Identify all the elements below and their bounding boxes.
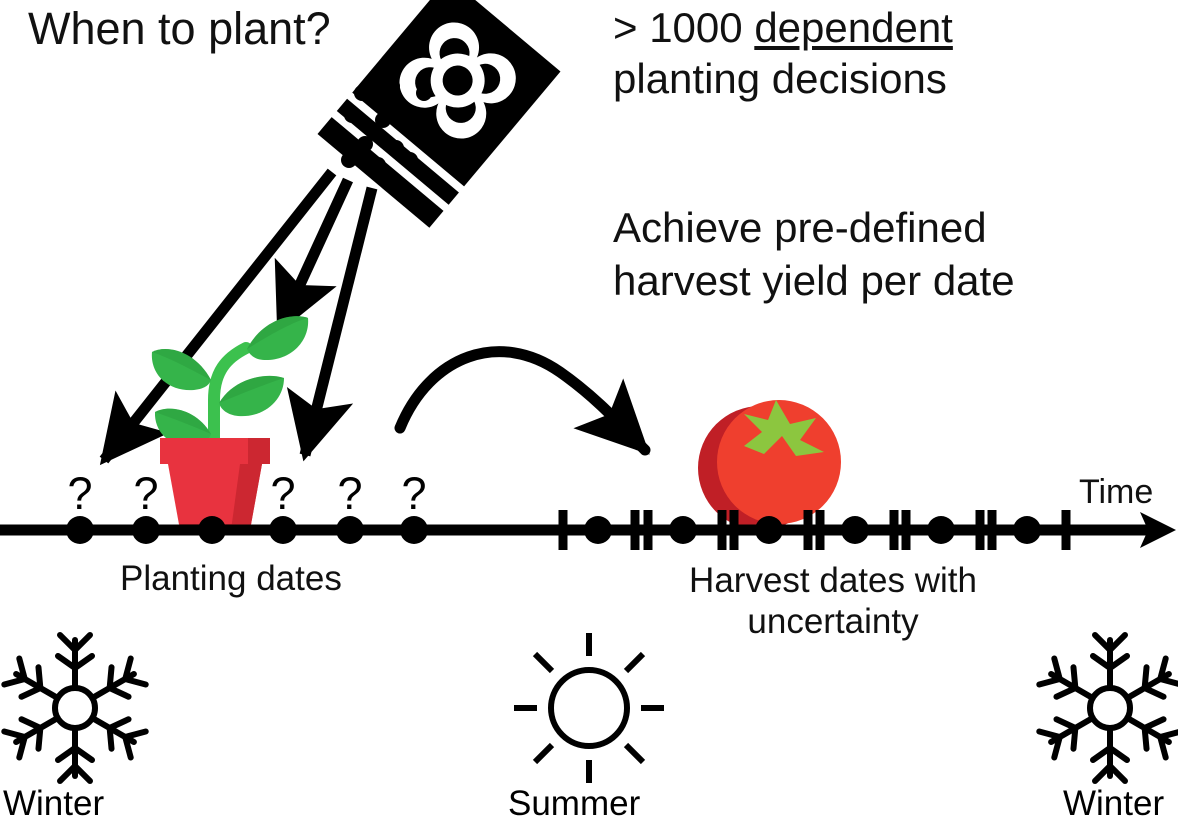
planting-question-mark: ? xyxy=(133,468,158,520)
planting-date-dot[interactable] xyxy=(400,516,428,544)
planting-date-dot[interactable] xyxy=(132,516,160,544)
planting-question-mark: ? xyxy=(67,468,92,520)
sun-icon-summer xyxy=(514,633,664,783)
planting-date-dot[interactable] xyxy=(336,516,364,544)
planting-date-dot[interactable] xyxy=(66,516,94,544)
arrow-icon-planting-to-harvest xyxy=(400,352,645,450)
planting-date-dot[interactable] xyxy=(269,516,297,544)
planting-date-dot[interactable] xyxy=(198,516,226,544)
snowflake-icon-winter-right xyxy=(1038,635,1178,781)
snowflake-icon-winter-left xyxy=(3,635,146,781)
harvest-date-dot[interactable] xyxy=(755,516,783,544)
planting-question-mark: ? xyxy=(401,468,426,520)
harvest-date-dot[interactable] xyxy=(1013,516,1041,544)
harvest-date-dot[interactable] xyxy=(584,516,612,544)
diagram-canvas: When to plant? > 1000 dependent planting… xyxy=(0,0,1178,820)
planting-question-mark: ? xyxy=(337,468,362,520)
harvest-date-dot[interactable] xyxy=(841,516,869,544)
planting-question-mark: ? xyxy=(270,468,295,520)
harvest-date-dot[interactable] xyxy=(927,516,955,544)
diagram-graphics xyxy=(0,0,1178,820)
harvest-date-dot[interactable] xyxy=(669,516,697,544)
arrow-icon-to-planting-3 xyxy=(305,188,372,455)
